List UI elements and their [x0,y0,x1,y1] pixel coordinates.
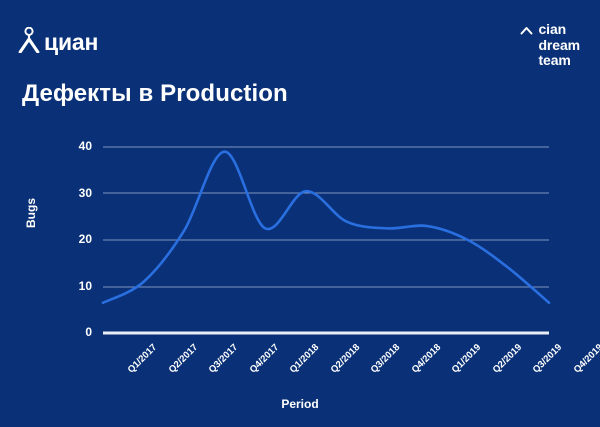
slide: циан cian dream team Дефекты в Productio… [0,0,600,427]
grid-lines [103,147,549,287]
y-axis-tick-label: 30 [46,186,92,200]
series-line [103,152,549,303]
y-axis-tick-label: 40 [46,139,92,153]
bugs-line-chart: 0 10 20 30 40 Q1/2017Q2/2017Q3/2017Q4/20… [0,0,600,427]
y-axis-title: Bugs [24,198,38,228]
x-axis-title: Period [0,397,600,411]
y-axis-tick-label: 0 [46,325,92,339]
y-axis-tick-label: 10 [46,279,92,293]
y-axis-tick-label: 20 [46,232,92,246]
